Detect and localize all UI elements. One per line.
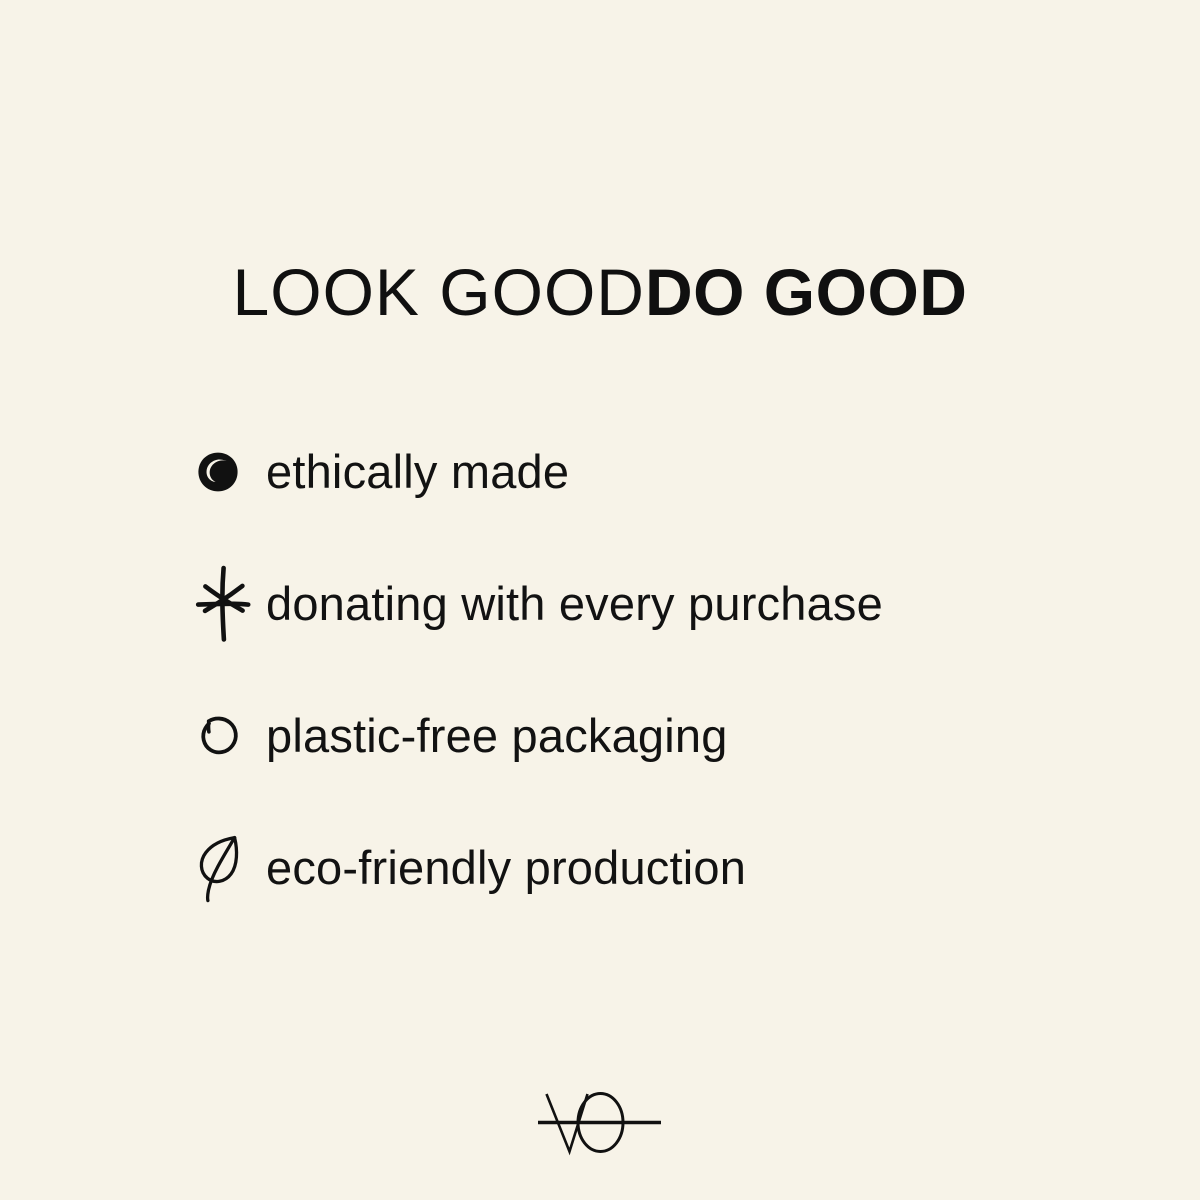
list-item-label: plastic-free packaging <box>266 710 728 762</box>
eight-point-star-icon <box>196 564 254 644</box>
list-item: plastic-free packaging <box>196 670 1096 802</box>
leaf-icon <box>196 828 254 908</box>
brand-logo <box>0 1082 1200 1162</box>
poster-canvas: LOOK GOODDO GOOD ethically made <box>0 0 1200 1200</box>
list-item-label: donating with every purchase <box>266 578 883 630</box>
list-item-label: eco-friendly production <box>266 842 746 894</box>
list-item-label: ethically made <box>266 446 569 498</box>
headline-light-part: LOOK GOOD <box>233 255 645 329</box>
feature-list: ethically made donating with every purch… <box>196 406 1096 934</box>
filled-circle-crescent-icon <box>196 432 254 512</box>
list-item: ethically made <box>196 406 1096 538</box>
list-item: donating with every purchase <box>196 538 1096 670</box>
page-title: LOOK GOODDO GOOD <box>0 256 1200 328</box>
spiral-circle-icon <box>196 696 254 776</box>
list-item: eco-friendly production <box>196 802 1096 934</box>
headline-bold-part: DO GOOD <box>645 255 968 329</box>
